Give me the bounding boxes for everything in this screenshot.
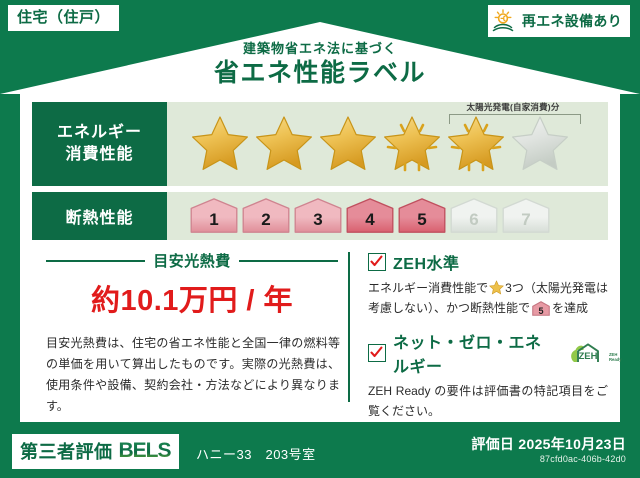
checkmark-icon bbox=[368, 253, 386, 271]
inline-star-icon bbox=[489, 280, 504, 295]
utility-cost-note: 目安光熱費は、住宅の省エネ性能と全国一律の燃料等の単価を用いて算出したものです。… bbox=[32, 333, 352, 417]
star-filled bbox=[381, 113, 443, 175]
insulation-performance-row: 断熱性能 1234567 bbox=[32, 192, 608, 240]
energy-label-line2: 消費性能 bbox=[65, 146, 133, 163]
checkmark-icon bbox=[368, 344, 386, 362]
insulation-level-on: 1 bbox=[189, 197, 239, 235]
insulation-levels-panel: 1234567 bbox=[167, 192, 608, 240]
net-zero-header: ネット・ゼロ・エネルギー ZEH ZEH Ready bbox=[368, 329, 608, 377]
star-rating bbox=[167, 102, 608, 186]
energy-stars-panel: 太陽光発電(自家消費)分 bbox=[167, 102, 608, 186]
utility-cost-column: 目安光熱費 約10.1万円 / 年 目安光熱費は、住宅の省エネ性能と全国一律の燃… bbox=[32, 250, 352, 412]
zeh-ready-sublabel: ZEH Ready bbox=[609, 353, 624, 363]
renewable-energy-badge: 再エネ設備あり bbox=[488, 5, 630, 37]
zeh-body-part1: エネルギー消費性能で bbox=[368, 281, 488, 295]
net-zero-body: ZEH Ready の要件は評価書の特記項目をご覧ください。 bbox=[368, 381, 608, 422]
building-type-badge: 住宅（住戸） bbox=[8, 5, 119, 31]
net-zero-title: ネット・ゼロ・エネルギー bbox=[393, 329, 557, 377]
insulation-level-number: 2 bbox=[241, 210, 291, 230]
zeh-standard-body: エネルギー消費性能で 3つ（太陽光発電は考慮しない）、かつ断熱性能で 5 を達成 bbox=[368, 278, 608, 319]
label-card: エネルギー 消費性能 太陽光発電(自家消費)分 断熱性能 1234567 bbox=[20, 92, 620, 422]
insulation-level-on: 5 bbox=[397, 197, 447, 235]
insulation-level-number: 1 bbox=[189, 210, 239, 230]
insulation-label-box: 断熱性能 bbox=[32, 192, 167, 240]
utility-cost-value: 約10.1万円 / 年 bbox=[32, 277, 352, 319]
insulation-level-number: 5 bbox=[397, 210, 447, 230]
star-filled bbox=[317, 113, 379, 175]
insulation-level-number: 4 bbox=[345, 210, 395, 230]
bottom-columns: 目安光熱費 約10.1万円 / 年 目安光熱費は、住宅の省エネ性能と全国一律の燃… bbox=[32, 250, 608, 412]
renewable-badge-label: 再エネ設備あり bbox=[522, 14, 622, 28]
heading-rule-left bbox=[46, 260, 145, 262]
zeh-standard-item: ZEH水準 エネルギー消費性能で 3つ（太陽光発電は考慮しない）、かつ断熱性能で… bbox=[368, 250, 608, 319]
bels-badge: 第三者評価 BELS bbox=[12, 434, 179, 469]
utility-cost-heading: 目安光熱費 bbox=[32, 250, 352, 271]
bels-prefix: 第三者評価 bbox=[20, 438, 113, 464]
energy-performance-label-box: エネルギー 消費性能 bbox=[32, 102, 167, 186]
evaluation-date: 評価日 2025年10月23日 bbox=[471, 434, 626, 454]
inline-house-level-number: 5 bbox=[532, 304, 550, 319]
heading-rule-right bbox=[239, 260, 338, 262]
insulation-level-on: 3 bbox=[293, 197, 343, 235]
star-filled bbox=[253, 113, 315, 175]
zeh-standard-header: ZEH水準 bbox=[368, 250, 608, 274]
sun-solar-icon bbox=[492, 8, 518, 34]
star-filled bbox=[445, 113, 507, 175]
unit-name: ハニー33 203号室 bbox=[196, 444, 316, 463]
star-filled bbox=[189, 113, 251, 175]
energy-label-line1: エネルギー bbox=[57, 124, 142, 141]
net-zero-energy-item: ネット・ゼロ・エネルギー ZEH ZEH Ready bbox=[368, 329, 608, 422]
certification-column: ZEH水準 エネルギー消費性能で 3つ（太陽光発電は考慮しない）、かつ断熱性能で… bbox=[352, 250, 608, 412]
label-footer: 第三者評価 BELS ハニー33 203号室 評価日 2025年10月23日 8… bbox=[0, 422, 640, 478]
zeh-standard-title: ZEH水準 bbox=[393, 250, 460, 274]
insulation-level-off: 6 bbox=[449, 197, 499, 235]
insulation-level-scale: 1234567 bbox=[167, 192, 608, 240]
evaluation-id: 87cfd0ac-406b-42d0 bbox=[540, 454, 626, 464]
energy-performance-label: 住宅（住戸） 再エネ設備あり 建築物省エネ法に基づく 省エネ性能ラベル bbox=[0, 0, 640, 478]
zeh-ready-line2: Ready bbox=[609, 357, 622, 362]
insulation-level-number: 6 bbox=[449, 210, 499, 230]
inline-house-level-icon: 5 bbox=[532, 301, 550, 316]
insulation-level-number: 3 bbox=[293, 210, 343, 230]
bels-mark: BELS bbox=[119, 439, 171, 463]
insulation-level-off: 7 bbox=[501, 197, 551, 235]
star-empty bbox=[509, 113, 571, 175]
insulation-level-on: 4 bbox=[345, 197, 395, 235]
svg-text:ZEH: ZEH bbox=[579, 351, 598, 362]
insulation-level-on: 2 bbox=[241, 197, 291, 235]
energy-performance-row: エネルギー 消費性能 太陽光発電(自家消費)分 bbox=[32, 102, 608, 186]
zeh-ready-logo: ZEH ZEH Ready bbox=[568, 342, 608, 364]
utility-cost-heading-text: 目安光熱費 bbox=[153, 250, 231, 271]
insulation-level-number: 7 bbox=[501, 210, 551, 230]
zeh-body-part3: を達成 bbox=[552, 301, 588, 315]
